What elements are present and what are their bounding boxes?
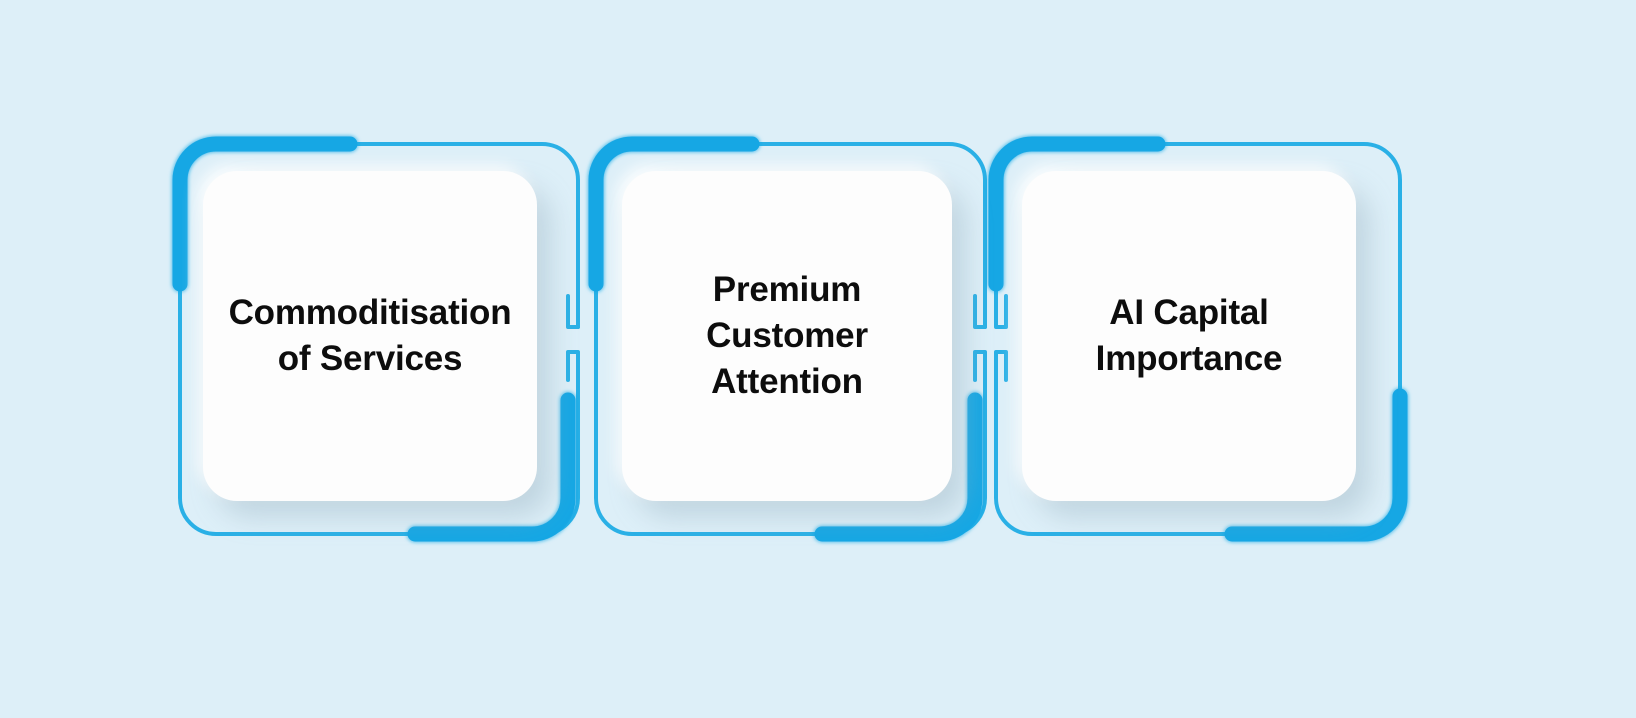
diagram-canvas: Commoditisation of Services Premium Cust… — [0, 0, 1636, 718]
step-card-3[interactable]: AI Capital Importance — [1022, 171, 1356, 501]
step-card-2-label: Premium Customer Attention — [692, 267, 882, 406]
step-card-2[interactable]: Premium Customer Attention — [622, 171, 952, 501]
step-cards-layer: Commoditisation of Services Premium Cust… — [0, 0, 1636, 718]
step-card-1-label: Commoditisation of Services — [215, 290, 526, 382]
step-card-3-label: AI Capital Importance — [1082, 290, 1297, 382]
step-card-1[interactable]: Commoditisation of Services — [203, 171, 537, 501]
